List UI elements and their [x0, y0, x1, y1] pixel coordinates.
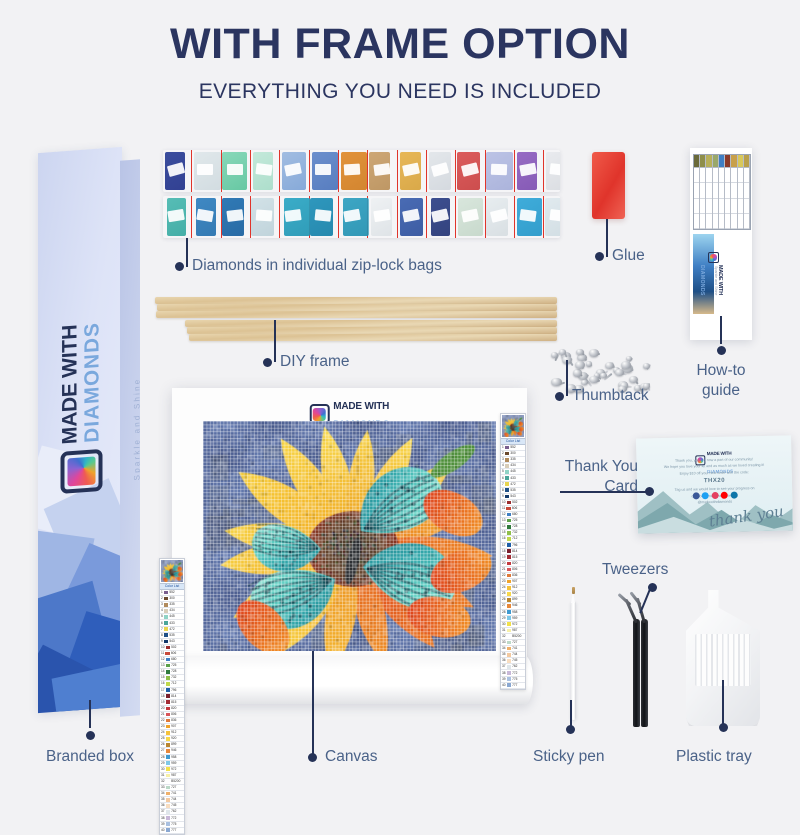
legend-rows: 1552230033354434544564337472853595431050…	[160, 590, 184, 834]
legend-row-number: 23	[161, 724, 165, 729]
legend-color-swatch	[166, 804, 171, 808]
diamond-bag	[427, 196, 456, 238]
legend-color-code: 535	[510, 488, 515, 493]
legend-row-number: 28	[502, 610, 506, 615]
brand-name-line1: MADE WITH	[707, 451, 732, 457]
guide-chart-swatch	[713, 155, 718, 168]
legend-row: 40777	[160, 828, 184, 834]
legend-row-number: 29	[161, 761, 165, 766]
branded-box-front: MADE WITH DIAMONDS	[38, 147, 122, 713]
legend-color-swatch	[164, 609, 169, 613]
legend-row-number: 16	[502, 536, 506, 541]
canvas-color-legend-right: Color List 15522300333544345445643374728…	[500, 413, 526, 690]
legend-color-swatch	[507, 610, 512, 614]
legend-color-swatch	[505, 495, 510, 499]
legend-color-code: 433	[510, 476, 515, 481]
legend-color-swatch	[507, 598, 512, 602]
legend-color-swatch	[164, 633, 169, 637]
diamond-logo-icon	[61, 449, 103, 494]
diamond-bag-label	[256, 163, 274, 176]
card-promo-code: THX20	[704, 478, 725, 484]
legend-row-number: 14	[161, 669, 165, 674]
legend-color-swatch	[166, 731, 171, 735]
legend-color-swatch	[166, 700, 171, 704]
guide-chart-cell	[731, 168, 736, 183]
tweezer-arm-right	[641, 619, 648, 727]
diamond-bag-label	[344, 164, 361, 176]
legend-color-swatch	[507, 659, 512, 663]
legend-row-number: 24	[502, 585, 506, 590]
legend-color-code: 335	[169, 602, 174, 607]
legend-color-swatch	[166, 761, 171, 765]
legend-row-number: 6	[502, 476, 504, 481]
legend-color-swatch	[507, 653, 512, 657]
guide-chart-cell	[700, 183, 705, 198]
diamond-bag	[192, 150, 221, 192]
leader-line-canvas	[312, 651, 314, 757]
diamond-bag	[339, 196, 368, 238]
legend-row-number: 32	[502, 634, 506, 639]
legend-row-number: 27	[161, 748, 165, 753]
legend-color-swatch	[507, 629, 512, 633]
legend-color-swatch	[166, 676, 171, 680]
legend-row-number: 1	[161, 590, 163, 595]
legend-color-swatch	[507, 531, 512, 535]
caption-branded-box: Branded box	[34, 731, 146, 767]
legend-color-swatch	[507, 525, 512, 529]
guide-chart-column	[744, 155, 750, 229]
legend-color-code: 775	[512, 677, 517, 682]
legend-color-code: 300	[169, 596, 174, 601]
brand-name-line1: MADE WITH	[59, 324, 82, 445]
diamond-bag	[368, 150, 397, 192]
marker-dot	[555, 392, 564, 401]
thumbtack	[573, 369, 582, 376]
marker-dot	[308, 753, 317, 762]
legend-color-code: 899	[512, 597, 517, 602]
legend-row-number: 27	[502, 603, 506, 608]
diamond-bag-label	[314, 209, 331, 222]
legend-row-number: 26	[502, 597, 506, 602]
howto-guide-product: MADE WITH DIAMONDS Sparkle and Shine	[690, 148, 752, 340]
legend-color-code: 744	[512, 652, 517, 657]
legend-color-code: 820	[171, 706, 176, 711]
caption-diamond-bags: Diamonds in individual zip-lock bags	[192, 256, 442, 276]
legend-color-code: 836	[171, 718, 176, 723]
legend-row-number: 17	[502, 543, 506, 548]
legend-row-number: 30	[502, 622, 506, 627]
leader-line-diamond-bags	[186, 238, 188, 267]
legend-color-swatch	[166, 828, 171, 832]
diamond-logo-icon	[709, 252, 720, 263]
caption-glue: Glue	[612, 246, 645, 266]
legend-row-number: 19	[502, 555, 506, 560]
legend-color-code: 958	[512, 610, 517, 615]
social-icon	[721, 492, 728, 499]
legend-row-number: 18	[502, 549, 506, 554]
legend-row-number: 17	[161, 688, 165, 693]
card-social-handle: @madewithdiamonds	[698, 500, 733, 505]
legend-row-number: 10	[502, 500, 506, 505]
guide-chart-swatch	[731, 155, 736, 168]
legend-color-swatch	[164, 597, 169, 601]
legend-row-number: 31	[161, 773, 165, 778]
legend-color-swatch	[507, 574, 512, 578]
legend-color-code: 796	[512, 543, 517, 548]
guide-chart-cell	[713, 214, 718, 229]
legend-row-number: 9	[502, 494, 504, 499]
legend-color-code: B5200	[171, 779, 180, 784]
diamond-bags-row-bottom	[163, 196, 560, 238]
thumbtack	[575, 361, 585, 369]
guide-chart-cell	[706, 183, 711, 198]
legend-color-swatch	[166, 664, 171, 668]
legend-color-swatch	[164, 591, 169, 595]
diamond-bag-label	[549, 163, 560, 176]
legend-row-number: 12	[161, 657, 165, 662]
leader-line-plastic-tray	[722, 680, 724, 726]
legend-color-code: 728	[512, 524, 517, 529]
legend-color-code: 606	[512, 506, 517, 511]
legend-row-number: 33	[502, 640, 506, 645]
caption-text: How-to guide	[696, 362, 745, 399]
legend-row-number: 9	[161, 639, 163, 644]
legend-color-code: 433	[169, 621, 174, 626]
diamond-bag	[222, 150, 251, 192]
marker-dot	[86, 731, 95, 740]
caption-sticky-pen: Sticky pen	[533, 747, 605, 767]
legend-color-code: 472	[510, 482, 515, 487]
frame-slat	[185, 320, 557, 327]
caption-plastic-tray: Plastic tray	[676, 747, 752, 767]
legend-color-swatch	[166, 810, 171, 814]
guide-chart-cell	[694, 214, 699, 229]
leader-line-glue	[606, 219, 608, 257]
thumbtack	[615, 369, 624, 376]
legend-color-code: 912	[512, 585, 517, 590]
legend-color-swatch	[507, 501, 512, 505]
guide-chart-cell	[694, 183, 699, 198]
card-line-2: We hope you love your kit and as much as…	[664, 463, 764, 469]
legend-color-swatch	[166, 780, 171, 784]
diamond-bag	[544, 196, 560, 238]
legend-row-number: 38	[502, 671, 506, 676]
legend-thumbnail	[502, 415, 524, 437]
guide-chart-cell	[744, 183, 749, 198]
legend-color-swatch	[507, 568, 512, 572]
legend-color-code: 987	[512, 628, 517, 633]
branded-box-side: Sparkle and Shine	[120, 159, 140, 716]
legend-row-number: 16	[161, 681, 165, 686]
diamond-bag	[398, 150, 427, 192]
legend-row-number: 39	[161, 822, 165, 827]
guide-chart-cell	[713, 168, 718, 183]
legend-row-number: 7	[161, 627, 163, 632]
legend-color-code: 775	[171, 822, 176, 827]
legend-color-code: 912	[171, 730, 176, 735]
legend-row-number: 19	[161, 700, 165, 705]
legend-color-swatch	[505, 488, 510, 492]
legend-color-code: 680	[171, 657, 176, 662]
legend-color-swatch	[507, 562, 512, 566]
legend-row-number: 10	[161, 645, 165, 650]
legend-row-number: 20	[502, 561, 506, 566]
legend-color-code: 552	[169, 590, 174, 595]
legend-color-swatch	[507, 683, 512, 687]
legend-row-number: 14	[502, 524, 506, 529]
branded-box: MADE WITH DIAMONDS Sparkle and Shine	[30, 150, 150, 725]
diamond-bag-label	[315, 164, 331, 175]
diamond-bag	[515, 150, 544, 192]
legend-row-number: 34	[502, 646, 506, 651]
legend-color-swatch	[166, 755, 171, 759]
legend-color-code: 920	[512, 591, 517, 596]
legend-color-swatch	[507, 555, 512, 559]
legend-row-number: 20	[161, 706, 165, 711]
brand-name-line2: DIAMONDS	[81, 321, 104, 443]
legend-color-swatch	[507, 580, 512, 584]
guide-chart-cell	[731, 199, 736, 214]
legend-color-code: 727	[171, 785, 176, 790]
legend-color-code: 946	[171, 748, 176, 753]
diamond-bag	[515, 196, 544, 238]
legend-color-code: 972	[171, 767, 176, 772]
thumbtack	[551, 378, 562, 387]
legend-color-code: 543	[510, 494, 515, 499]
marker-dot	[566, 725, 575, 734]
guide-chart-cell	[725, 168, 730, 183]
legend-color-code: 725	[512, 518, 517, 523]
legend-color-code: 543	[169, 639, 174, 644]
legend-row-number: 30	[161, 767, 165, 772]
legend-row-number: 26	[161, 742, 165, 747]
marker-dot	[175, 262, 184, 271]
caption-thumbtack: Thumbtack	[572, 386, 649, 406]
diamond-bag-label	[226, 209, 244, 222]
guide-chart-cell	[719, 199, 724, 214]
legend-row-number: 36	[502, 658, 506, 663]
legend-color-code: 836	[512, 573, 517, 578]
marker-dot	[717, 346, 726, 355]
diamond-bag-label	[520, 209, 538, 222]
legend-color-swatch	[166, 707, 171, 711]
legend-color-swatch	[166, 694, 171, 698]
tray-ribs	[695, 634, 751, 686]
pen-tip	[572, 587, 574, 594]
legend-row-number: 33	[161, 785, 165, 790]
legend-color-code: 907	[512, 579, 517, 584]
guide-chart-cell	[700, 214, 705, 229]
legend-color-code: 920	[171, 736, 176, 741]
guide-chart-swatch	[738, 155, 743, 168]
diamond-bag-label	[373, 163, 391, 176]
legend-row-number: 34	[161, 791, 165, 796]
legend-color-swatch	[507, 592, 512, 596]
legend-row-number: 11	[161, 651, 164, 656]
legend-title: Color List	[501, 438, 525, 445]
legend-color-swatch	[505, 464, 510, 468]
legend-color-code: 300	[510, 451, 515, 456]
guide-chart-cell	[744, 199, 749, 214]
thumbtack	[589, 349, 599, 357]
frame-slat	[187, 327, 557, 334]
legend-color-code: 335	[510, 457, 515, 462]
thumbtack	[581, 380, 588, 385]
social-icon	[730, 492, 737, 499]
canvas-rolled-edge	[166, 656, 533, 704]
legend-color-swatch	[505, 458, 510, 462]
canvas-artwork	[203, 421, 496, 651]
frame-slat	[189, 334, 557, 341]
diamond-bag	[368, 196, 397, 238]
legend-color-swatch	[166, 670, 171, 674]
legend-row-number: 23	[502, 579, 506, 584]
legend-color-code: 712	[171, 681, 176, 686]
diamond-bag	[163, 150, 192, 192]
social-icon	[702, 492, 709, 499]
legend-color-swatch	[507, 635, 512, 639]
guide-chart-swatch	[744, 155, 749, 168]
legend-color-swatch	[507, 616, 512, 620]
legend-row-number: 12	[502, 512, 506, 517]
diamond-bag	[251, 150, 280, 192]
legend-color-swatch	[166, 774, 171, 778]
thumbtack	[551, 352, 558, 358]
guide-chart-cell	[700, 199, 705, 214]
legend-color-swatch	[505, 482, 510, 486]
leader-line-sticky-pen	[570, 700, 572, 728]
legend-color-swatch	[166, 786, 171, 790]
marker-dot	[719, 723, 728, 732]
legend-color-swatch	[505, 446, 510, 450]
legend-row-number: 8	[502, 488, 504, 493]
guide-chart-cell	[700, 168, 705, 183]
legend-color-swatch	[507, 513, 512, 517]
legend-color-code: 772	[512, 671, 517, 676]
legend-thumbnail	[161, 560, 183, 582]
legend-color-swatch	[166, 688, 171, 692]
guide-chart-swatch	[719, 155, 724, 168]
diamond-bag-label	[256, 210, 273, 222]
legend-color-code: 777	[171, 828, 176, 833]
legend-color-code: 958	[171, 755, 176, 760]
legend-row-number: 21	[161, 712, 165, 717]
guide-chart-swatch	[725, 155, 730, 168]
legend-row-number: 39	[502, 677, 506, 682]
legend-rows: 1552230033354434544564337472853595431050…	[501, 445, 525, 689]
legend-color-code: 732	[171, 675, 176, 680]
legend-color-swatch	[166, 682, 171, 686]
diamond-bags-row-top	[163, 150, 560, 192]
caption-tweezers: Tweezers	[602, 560, 668, 580]
diy-frame	[155, 296, 560, 344]
legend-color-code: 502	[512, 500, 517, 505]
diamond-grid-overlay	[203, 421, 496, 651]
legend-color-code: 806	[171, 712, 176, 717]
diamond-bag	[456, 196, 485, 238]
legend-row-number: 8	[161, 633, 163, 638]
legend-color-code: 535	[169, 633, 174, 638]
frame-slat	[157, 304, 557, 311]
legend-color-swatch	[507, 604, 512, 608]
legend-color-code: 727	[512, 640, 517, 645]
legend-color-code: 814	[171, 694, 176, 699]
legend-color-swatch	[505, 476, 510, 480]
guide-color-chart	[693, 154, 751, 230]
legend-color-swatch	[507, 537, 512, 541]
legend-color-code: 728	[171, 669, 176, 674]
marker-dot	[645, 487, 654, 496]
guide-chart-cell	[731, 183, 736, 198]
legend-row-number: 22	[502, 573, 506, 578]
guide-chart-cell	[744, 168, 749, 183]
legend-row-number: 35	[502, 652, 506, 657]
legend-color-swatch	[507, 665, 512, 669]
legend-color-code: 445	[510, 469, 515, 474]
legend-color-code: 741	[171, 791, 176, 796]
diamond-bag	[222, 196, 251, 238]
tweezer-point-left	[618, 593, 632, 606]
legend-row-number: 2	[502, 451, 504, 456]
marker-dot	[595, 252, 604, 261]
card-line-1: Thank you, you are now a part of our com…	[675, 457, 753, 463]
guide-chart-cell	[719, 168, 724, 183]
thumbtack	[600, 373, 606, 378]
legend-color-code: 606	[171, 651, 176, 656]
pen-barrel	[571, 601, 576, 720]
legend-row-number: 3	[161, 602, 163, 607]
card-line-3: Enjoy $10 off your next order with the c…	[680, 470, 749, 475]
legend-color-swatch	[166, 743, 171, 747]
diamond-bag	[310, 150, 339, 192]
legend-row-number: 4	[502, 463, 504, 468]
glue-product	[592, 152, 625, 219]
legend-row-number: 13	[502, 518, 506, 523]
legend-row-number: 40	[161, 828, 165, 833]
legend-color-swatch	[166, 822, 171, 826]
legend-row-number: 37	[502, 664, 506, 669]
guide-chart-cell	[725, 183, 730, 198]
legend-color-swatch	[505, 452, 510, 456]
legend-color-swatch	[164, 640, 169, 644]
legend-color-swatch	[166, 646, 171, 650]
brand-name-line1: MADE WITH	[333, 401, 389, 412]
thumbtack	[576, 349, 583, 355]
guide-chart-cell	[694, 199, 699, 214]
legend-row-number: 2	[161, 596, 163, 601]
thumbtack	[589, 376, 599, 384]
page-title: WITH FRAME OPTION	[0, 22, 800, 67]
legend-color-code: 777	[512, 683, 517, 688]
legend-row-number: 31	[502, 628, 506, 633]
diamond-bag	[339, 150, 368, 192]
canvas-product: MADE WITH DIAMONDS Color List 1552230033…	[172, 388, 527, 678]
guide-chart-cell	[738, 214, 743, 229]
canvas-sheet: MADE WITH DIAMONDS Color List 1552230033…	[172, 388, 527, 673]
legend-color-code: 762	[512, 664, 517, 669]
legend-color-code: B5200	[512, 634, 521, 639]
guide-chart-cell	[738, 199, 743, 214]
legend-color-code: 959	[171, 761, 176, 766]
leader-line-branded-box	[89, 700, 91, 728]
legend-row-number: 37	[161, 809, 165, 814]
legend-row-number: 21	[502, 567, 506, 572]
legend-color-code: 972	[512, 622, 517, 627]
legend-color-code: 762	[171, 809, 176, 814]
legend-color-swatch	[507, 586, 512, 590]
legend-row-number: 38	[161, 816, 165, 821]
leader-line-thumbtack	[566, 360, 568, 396]
